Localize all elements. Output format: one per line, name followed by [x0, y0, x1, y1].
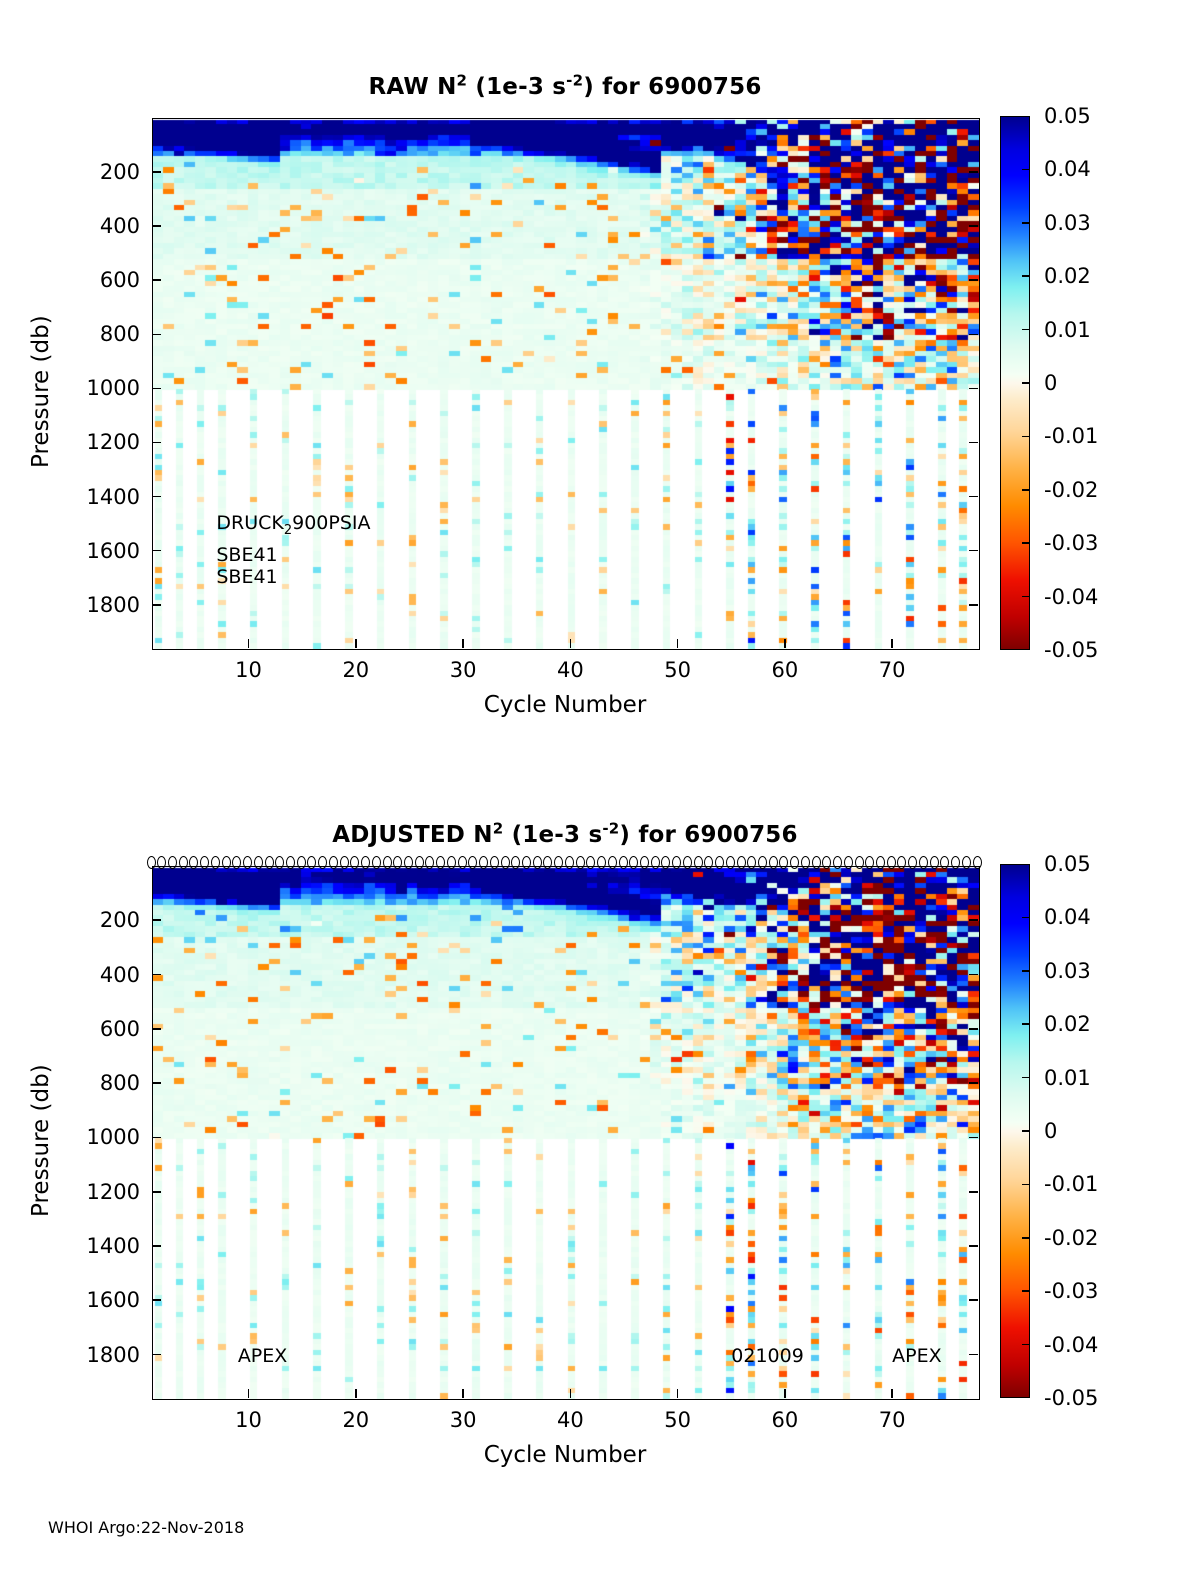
annotation-sensor-ctd-1: SBE41	[216, 544, 277, 566]
colorbar-tick-label: 0.02	[1044, 264, 1091, 288]
x-tick-label: 50	[664, 1408, 691, 1432]
panel-raw-y-axis-label: Pressure (db)	[28, 315, 54, 468]
colorbar-tick-mark	[1022, 1344, 1030, 1346]
colorbar-tick-mark	[1022, 489, 1030, 491]
cycle-marker	[930, 856, 939, 869]
cycle-marker	[919, 856, 928, 869]
cycle-marker	[651, 856, 660, 869]
y-tick-mark	[152, 1245, 161, 1247]
cycle-marker	[855, 856, 864, 869]
panel-raw-x-axis-label: Cycle Number	[484, 692, 647, 718]
colorbar-tick-label: -0.05	[1044, 1386, 1098, 1410]
cycle-marker	[447, 856, 456, 869]
x-tick-label: 30	[450, 658, 477, 682]
y-tick-mark-right	[969, 1354, 978, 1356]
cycle-marker	[608, 856, 617, 869]
colorbar-tick-label: 0.04	[1044, 905, 1091, 929]
cycle-marker	[715, 856, 724, 869]
y-tick-mark-right	[969, 279, 978, 281]
cycle-marker	[533, 856, 542, 869]
y-tick-mark	[152, 1082, 161, 1084]
colorbar-tick-label: 0.03	[1044, 959, 1091, 983]
cycle-marker	[479, 856, 488, 869]
colorbar-tick-label: 0.01	[1044, 1066, 1091, 1090]
cycle-marker	[286, 856, 295, 869]
x-tick-label: 60	[772, 658, 799, 682]
cycle-marker	[769, 856, 778, 869]
cycle-marker	[726, 856, 735, 869]
cycle-marker	[522, 856, 531, 869]
y-tick-mark-right	[969, 1082, 978, 1084]
x-tick-mark	[462, 639, 464, 648]
cycle-marker	[951, 856, 960, 869]
y-tick-mark-right	[969, 225, 978, 227]
colorbar-tick-label: -0.01	[1044, 424, 1098, 448]
y-tick-mark-right	[969, 1137, 978, 1139]
y-tick-mark-right	[969, 974, 978, 976]
panel-raw-title: RAW N2 (1e-3 s-2) for 6900756	[152, 74, 978, 100]
colorbar-tick-mark	[1022, 1290, 1030, 1292]
x-tick-mark	[891, 639, 893, 648]
y-tick-mark-right	[969, 604, 978, 606]
panel-adjusted-y-axis-label: Pressure (db)	[28, 1064, 54, 1217]
cycle-marker	[833, 856, 842, 869]
y-tick-mark	[152, 225, 161, 227]
x-tick-label: 50	[664, 658, 691, 682]
colorbar-tick-mark	[1022, 382, 1030, 384]
colorbar-tick-mark	[1022, 436, 1030, 438]
cycle-marker	[415, 856, 424, 869]
colorbar-tick-mark	[1022, 1237, 1030, 1239]
y-tick-label: 800	[100, 1071, 140, 1095]
x-tick-mark	[570, 1389, 572, 1398]
cycle-marker	[297, 856, 306, 869]
colorbar-tick-label: 0.05	[1044, 104, 1091, 128]
panel-adjusted-title: ADJUSTED N2 (1e-3 s-2) for 6900756	[152, 822, 978, 848]
x-tick-label: 70	[879, 1408, 906, 1432]
colorbar-tick-mark	[1022, 1023, 1030, 1025]
colorbar-tick-label: 0.05	[1044, 852, 1091, 876]
y-tick-mark	[152, 1191, 161, 1193]
x-tick-label: 10	[235, 658, 262, 682]
y-tick-label: 200	[100, 908, 140, 932]
cycle-marker	[737, 856, 746, 869]
x-tick-mark	[677, 639, 679, 648]
colorbar-tick-label: 0.01	[1044, 318, 1091, 342]
cycle-marker	[694, 856, 703, 869]
cycle-marker	[372, 856, 381, 869]
colorbar-tick-label: -0.02	[1044, 1226, 1098, 1250]
cycle-marker	[683, 856, 692, 869]
annotation-float-type-right: APEX	[892, 1345, 941, 1367]
colorbar-tick-label: -0.01	[1044, 1172, 1098, 1196]
cycle-marker	[329, 856, 338, 869]
x-tick-mark	[462, 1389, 464, 1398]
y-tick-label: 1600	[87, 1288, 140, 1312]
y-tick-label: 1400	[87, 1234, 140, 1258]
y-tick-mark	[152, 171, 161, 173]
cycle-marker	[887, 856, 896, 869]
cycle-marker	[383, 856, 392, 869]
annotation-sensor-ctd-2: SBE41	[216, 566, 277, 588]
cycle-marker	[211, 856, 220, 869]
cycle-marker	[844, 856, 853, 869]
colorbar-tick-label: 0	[1044, 1119, 1057, 1143]
colorbar-tick-label: 0.03	[1044, 211, 1091, 235]
y-tick-mark-right	[969, 334, 978, 336]
y-tick-mark-right	[969, 1299, 978, 1301]
cycle-marker	[576, 856, 585, 869]
colorbar-tick-label: -0.03	[1044, 531, 1098, 555]
y-tick-mark	[152, 1299, 161, 1301]
y-tick-label: 400	[100, 214, 140, 238]
panel-adjusted-x-axis-label: Cycle Number	[484, 1442, 647, 1468]
colorbar-tick-label: 0	[1044, 371, 1057, 395]
y-tick-mark	[152, 279, 161, 281]
y-tick-mark	[152, 550, 161, 552]
x-tick-mark	[248, 1389, 250, 1398]
cycle-marker	[973, 856, 982, 869]
y-tick-mark	[152, 1028, 161, 1030]
cycle-marker	[490, 856, 499, 869]
y-tick-label: 1200	[87, 1180, 140, 1204]
y-tick-label: 1800	[87, 593, 140, 617]
colorbar-tick-label: -0.03	[1044, 1279, 1098, 1303]
cycle-marker	[565, 856, 574, 869]
colorbar-tick-label: 0.04	[1044, 157, 1091, 181]
y-tick-mark	[152, 919, 161, 921]
cycle-marker	[501, 856, 510, 869]
y-tick-mark-right	[969, 171, 978, 173]
colorbar-tick-label: -0.04	[1044, 1333, 1098, 1357]
panel-adjusted-colorbar: 0.050.040.030.020.010-0.01-0.02-0.03-0.0…	[1000, 864, 1200, 1398]
annotation-float-serial: 021009	[731, 1345, 804, 1367]
cycle-marker	[361, 856, 370, 869]
y-tick-mark	[152, 496, 161, 498]
x-tick-label: 10	[235, 1408, 262, 1432]
y-tick-mark-right	[969, 919, 978, 921]
cycle-marker	[801, 856, 810, 869]
cycle-marker	[222, 856, 231, 869]
x-tick-label: 20	[342, 658, 369, 682]
cycle-marker	[758, 856, 767, 869]
cycle-marker	[876, 856, 885, 869]
x-tick-label: 40	[557, 658, 584, 682]
cycle-marker	[458, 856, 467, 869]
y-tick-mark	[152, 974, 161, 976]
y-tick-mark-right	[969, 550, 978, 552]
y-tick-label: 800	[100, 322, 140, 346]
cycle-marker	[404, 856, 413, 869]
colorbar-tick-mark	[1022, 222, 1030, 224]
y-tick-mark	[152, 442, 161, 444]
y-tick-label: 400	[100, 963, 140, 987]
x-tick-mark	[784, 1389, 786, 1398]
y-tick-label: 1800	[87, 1343, 140, 1367]
cycle-marker	[243, 856, 252, 869]
footer-credit: WHOI Argo:22-Nov-2018	[48, 1518, 244, 1537]
cycle-marker	[179, 856, 188, 869]
y-tick-label: 1600	[87, 539, 140, 563]
colorbar-tick-mark	[1022, 917, 1030, 919]
x-tick-mark	[248, 639, 250, 648]
colorbar-tick-label: 0.02	[1044, 1012, 1091, 1036]
x-tick-label: 20	[342, 1408, 369, 1432]
cycle-marker	[254, 856, 263, 869]
y-tick-mark-right	[969, 496, 978, 498]
y-tick-label: 1000	[87, 376, 140, 400]
y-tick-mark	[152, 334, 161, 336]
x-tick-mark	[355, 1389, 357, 1398]
colorbar-tick-label: -0.02	[1044, 478, 1098, 502]
colorbar-tick-mark	[1022, 1184, 1030, 1186]
x-tick-label: 60	[772, 1408, 799, 1432]
panel-adjusted-plot-area[interactable]	[152, 866, 980, 1400]
annotation-float-type-left: APEX	[238, 1345, 287, 1367]
x-tick-mark	[891, 1389, 893, 1398]
y-tick-label: 600	[100, 268, 140, 292]
colorbar-tick-mark	[1022, 169, 1030, 171]
y-tick-label: 1200	[87, 430, 140, 454]
colorbar-tick-mark	[1022, 329, 1030, 331]
colorbar-tick-label: -0.04	[1044, 585, 1098, 609]
y-tick-mark-right	[969, 1028, 978, 1030]
y-tick-mark-right	[969, 388, 978, 390]
x-tick-label: 70	[879, 658, 906, 682]
annotation-sensor-pressure: DRUCK2900PSIA	[216, 512, 370, 534]
colorbar-tick-mark	[1022, 275, 1030, 277]
y-tick-mark	[152, 604, 161, 606]
x-tick-mark	[784, 639, 786, 648]
adjusted-heatmap-canvas	[153, 867, 979, 1399]
cycle-marker	[812, 856, 821, 869]
y-tick-label: 1000	[87, 1125, 140, 1149]
y-tick-mark-right	[969, 1191, 978, 1193]
cycle-marker	[962, 856, 971, 869]
colorbar-tick-mark	[1022, 1077, 1030, 1079]
colorbar-tick-mark	[1022, 542, 1030, 544]
colorbar-tick-mark	[1022, 970, 1030, 972]
cycle-marker	[147, 856, 156, 869]
cycle-marker	[168, 856, 177, 869]
cycle-marker	[640, 856, 649, 869]
panel-raw-colorbar: 0.050.040.030.020.010-0.01-0.02-0.03-0.0…	[1000, 116, 1200, 650]
y-tick-label: 200	[100, 160, 140, 184]
y-tick-mark	[152, 1354, 161, 1356]
cycle-marker	[597, 856, 606, 869]
cycle-marker	[265, 856, 274, 869]
y-tick-mark-right	[969, 1245, 978, 1247]
x-tick-mark	[677, 1389, 679, 1398]
x-tick-label: 30	[450, 1408, 477, 1432]
y-tick-mark	[152, 388, 161, 390]
y-tick-label: 1400	[87, 485, 140, 509]
colorbar-tick-mark	[1022, 1130, 1030, 1132]
y-tick-mark-right	[969, 442, 978, 444]
colorbar-tick-label: -0.05	[1044, 638, 1098, 662]
colorbar-tick-mark	[1022, 596, 1030, 598]
cycle-marker	[340, 856, 349, 869]
x-tick-mark	[570, 639, 572, 648]
x-tick-label: 40	[557, 1408, 584, 1432]
y-tick-mark	[152, 1137, 161, 1139]
x-tick-mark	[355, 639, 357, 648]
cycle-marker	[619, 856, 628, 869]
y-tick-label: 600	[100, 1017, 140, 1041]
